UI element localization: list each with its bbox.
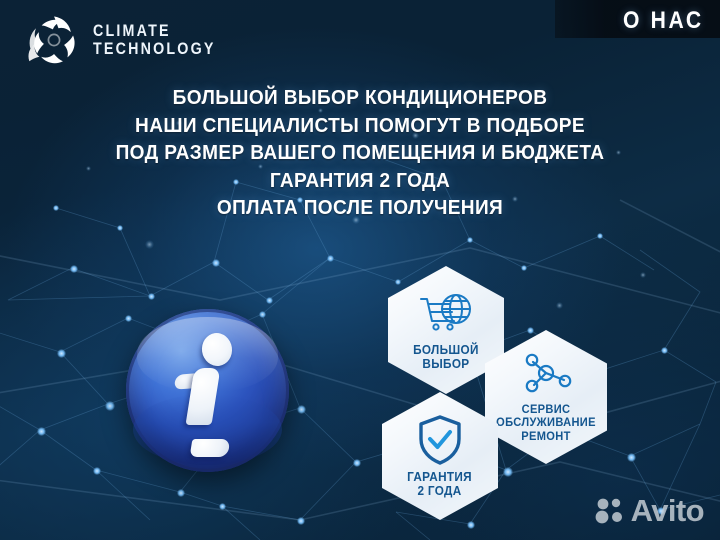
headline-line-4: ГАРАНТИЯ 2 ГОДА — [25, 167, 695, 195]
avito-watermark: Avito — [595, 495, 704, 526]
info-i-dot — [200, 332, 234, 369]
headline-line-5: ОПЛАТА ПОСЛЕ ПОЛУЧЕНИЯ — [25, 194, 695, 222]
headline-line-2: НАШИ СПЕЦИАЛИСТЫ ПОМОГУТ В ПОДБОРЕ — [25, 112, 695, 140]
avito-wordmark: Avito — [631, 495, 704, 526]
shield-check-icon — [416, 414, 464, 466]
brand-name-line2: TECHNOLOGY — [93, 40, 216, 58]
information-sphere-icon — [126, 309, 289, 472]
headline-block: БОЛЬШОЙ ВЫБОР КОНДИЦИОНЕРОВ НАШИ СПЕЦИАЛ… — [0, 84, 720, 222]
network-nodes-icon — [519, 351, 573, 397]
feature-label-warranty: ГАРАНТИЯ 2 ГОДА — [408, 470, 473, 498]
brand-name-line1: CLIMATE — [93, 22, 216, 40]
headline-line-3: ПОД РАЗМЕР ВАШЕГО ПОМЕЩЕНИЯ И БЮДЖЕТА — [25, 139, 695, 167]
headline-line-1: БОЛЬШОЙ ВЫБОР КОНДИЦИОНЕРОВ — [25, 84, 695, 112]
feature-label-big-choice: БОЛЬШОЙ ВЫБОР — [413, 343, 479, 371]
feature-label-service: СЕРВИС ОБСЛУЖИВАНИЕ РЕМОНТ — [496, 403, 596, 443]
shopping-cart-globe-icon — [416, 290, 476, 338]
info-i-foot — [190, 439, 231, 457]
network-background — [0, 0, 720, 540]
promo-banner: О НАС CLIMATE TECHNOLOGY БОЛЬШОЙ ВЫБОР К… — [0, 0, 720, 540]
about-title: О НАС — [623, 6, 704, 36]
brand-logo[interactable]: CLIMATE TECHNOLOGY — [26, 12, 239, 68]
turbine-swirl-icon — [26, 12, 82, 68]
avito-dots-icon — [595, 497, 625, 525]
